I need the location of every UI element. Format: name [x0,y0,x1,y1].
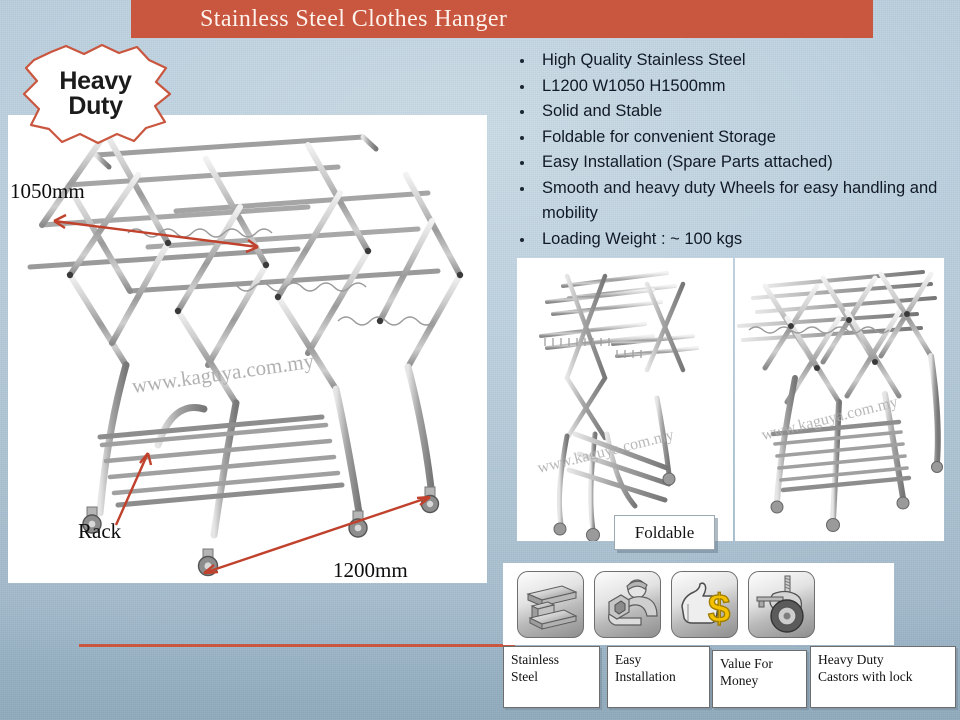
badge-line-2: Duty [68,94,122,120]
feature-label-value-for-money: Value For Money [712,650,807,708]
feature-label-easy-installation: Easy Installation [607,646,710,708]
steel-beam-icon [517,571,584,638]
heavy-duty-badge: Heavy Duty [18,42,173,146]
bullet-item: Easy Installation (Spare Parts attached) [506,150,956,176]
page-title: Stainless Steel Clothes Hanger [131,6,507,33]
heavy-duty-label: Heavy Duty [18,42,173,146]
slide-canvas: Stainless Steel Clothes Hanger Heavy Dut… [0,0,960,720]
watermark-text: www.kaguya.com.my [760,394,900,444]
horizontal-divider [79,644,515,647]
feature-bullet-list: High Quality Stainless Steel L1200 W1050… [506,48,956,252]
bullet-items: High Quality Stainless Steel L1200 W1050… [506,48,956,252]
bullet-item: Loading Weight : ~ 100 kgs [506,227,956,253]
folded-rack-illustration: www.kaguya.com.my [517,258,733,541]
open-rack-photo: www.kaguya.com.my [735,258,944,541]
folded-rack-photo: www.kaguya.com.my [517,258,733,541]
feature-icon-row: $ [503,563,894,645]
bullet-item: High Quality Stainless Steel [506,48,956,74]
bullet-item: L1200 W1050 H1500mm [506,74,956,100]
open-rack-illustration: www.kaguya.com.my [735,258,944,541]
foldable-tag-label: Foldable [635,523,695,543]
worker-wrench-icon [594,571,661,638]
feature-label-line-1: Heavy Duty [818,651,948,668]
feature-label-line-2: Castors with lock [818,668,948,685]
feature-label-line-2: Steel [511,668,592,685]
watermark-text: www.kaguya.com.my [130,349,316,398]
feature-label-stainless-steel: Stainless Steel [503,646,600,708]
caster-wheel-icon [748,571,815,638]
rack-callout-label: Rack [78,519,121,544]
thumbs-up-dollar-icon: $ [671,571,738,638]
badge-line-1: Heavy [59,69,131,95]
bullet-item: Solid and Stable [506,99,956,125]
svg-text:$: $ [708,587,730,631]
feature-label-heavy-duty-castors: Heavy Duty Castors with lock [810,646,956,708]
feature-label-line-2: Installation [615,668,702,685]
bullet-item: Foldable for convenient Storage [506,125,956,151]
foldable-tag: Foldable [614,515,715,550]
feature-label-line-1: Stainless [511,651,592,668]
feature-label-line-2: Money [720,672,799,689]
feature-label-line-1: Easy [615,651,702,668]
dimension-length-label: 1200mm [333,558,408,583]
dimension-width-label: 1050mm [10,179,85,204]
title-bar: Stainless Steel Clothes Hanger [131,0,873,38]
feature-label-line-1: Value For [720,655,799,672]
bullet-item: Smooth and heavy duty Wheels for easy ha… [506,176,956,227]
